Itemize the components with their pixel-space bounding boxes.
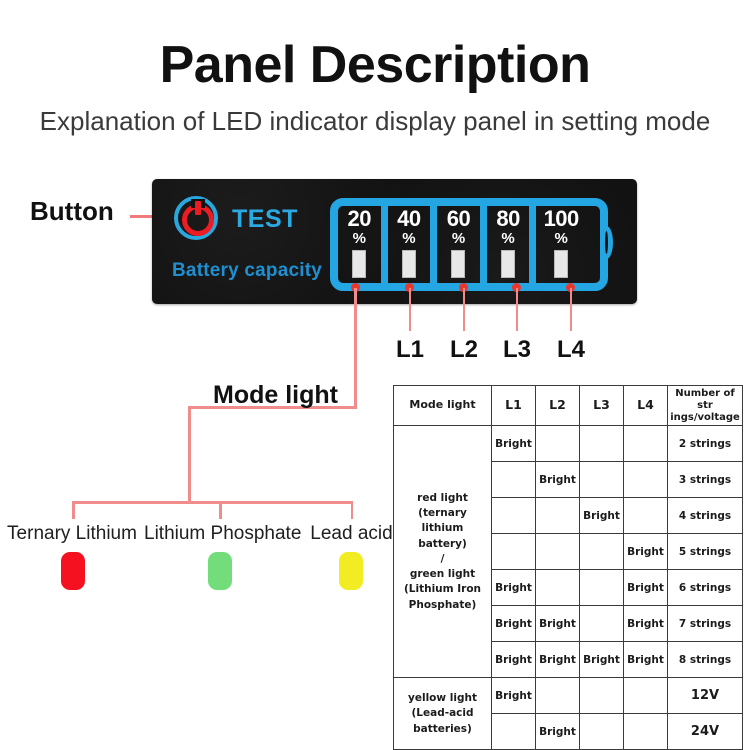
cell-l2 (536, 498, 580, 534)
branch-drop-leadacid (351, 501, 354, 519)
th-mode-light: Mode light (394, 386, 492, 426)
l3-callout-line (516, 288, 519, 331)
cell-l1 (492, 534, 536, 570)
th-l1: L1 (492, 386, 536, 426)
table-row: red light (ternary lithium battery) / gr… (394, 426, 743, 462)
cell-l4 (624, 498, 668, 534)
cell-result: 3 strings (668, 462, 743, 498)
battery-segment-60: 60 % (437, 206, 487, 283)
segment-value: 80 (496, 208, 519, 230)
cell-result: 4 strings (668, 498, 743, 534)
mode-line: (Lithium Iron (404, 583, 481, 595)
battery-capacity-label: Battery capacity (172, 260, 322, 282)
mode-light-vline (354, 288, 357, 408)
cell-l2 (536, 678, 580, 714)
power-stem (195, 201, 201, 215)
page-title: Panel Description (0, 38, 750, 93)
cell-result: 7 strings (668, 606, 743, 642)
mode-line: battery) (418, 538, 467, 550)
mode-line: yellow light (408, 692, 477, 704)
th-strings-voltage: Number of str ings/voltage (668, 386, 743, 426)
l2-callout-line (463, 288, 466, 331)
cell-mode-group-red-green: red light (ternary lithium battery) / gr… (394, 426, 492, 678)
segment-unit: % (501, 231, 514, 246)
swatch-green-lithium-phosphate (208, 552, 232, 590)
cell-l4: Bright (624, 642, 668, 678)
l4-label: L4 (557, 336, 585, 364)
page-subtitle: Explanation of LED indicator display pan… (0, 106, 750, 137)
power-button-icon[interactable] (174, 196, 222, 244)
cell-l4 (624, 426, 668, 462)
button-callout-label: Button (30, 196, 114, 227)
cell-l3 (580, 678, 624, 714)
mode-line: batteries) (413, 723, 472, 735)
leaf-label-lithium-phosphate: Lithium Phosphate (144, 523, 296, 545)
leaf-label-ternary-lithium: Ternary Lithium (5, 523, 139, 545)
l4-callout-line (570, 288, 573, 331)
swatch-red-ternary-lithium (61, 552, 85, 590)
cell-result: 12V (668, 678, 743, 714)
branch-drop-phosphate (219, 501, 222, 519)
cell-l4 (624, 714, 668, 750)
cell-l2 (536, 570, 580, 606)
cell-l2: Bright (536, 606, 580, 642)
mode-line: green light (410, 568, 475, 580)
mode-line: Phosphate) (409, 599, 477, 611)
cell-l3 (580, 462, 624, 498)
cell-l3: Bright (580, 498, 624, 534)
cell-l2 (536, 426, 580, 462)
cell-l1 (492, 462, 536, 498)
battery-segments: 20 % 40 % 60 % 80 % 100 % (338, 206, 586, 283)
l3-label: L3 (503, 336, 531, 364)
battery-terminal-nub-icon (600, 226, 613, 259)
cell-l1: Bright (492, 642, 536, 678)
segment-led-indicator (402, 250, 416, 278)
cell-l3 (580, 534, 624, 570)
segment-unit: % (353, 231, 366, 246)
battery-segment-40: 40 % (388, 206, 438, 283)
segment-unit: % (555, 231, 568, 246)
th-l2: L2 (536, 386, 580, 426)
cell-result: 24V (668, 714, 743, 750)
table-row: yellow light (Lead-acid batteries) Brigh… (394, 678, 743, 714)
segment-led-indicator (451, 250, 465, 278)
segment-value: 20 (348, 208, 371, 230)
mode-line: (Lead-acid (412, 707, 474, 719)
cell-l3 (580, 606, 624, 642)
cell-l2: Bright (536, 714, 580, 750)
cell-l4: Bright (624, 570, 668, 606)
mode-line: / (441, 553, 445, 565)
cell-l1 (492, 714, 536, 750)
cell-l3 (580, 714, 624, 750)
battery-segment-20: 20 % (338, 206, 388, 283)
swatch-yellow-lead-acid (339, 552, 363, 590)
cell-l1: Bright (492, 570, 536, 606)
cell-result: 8 strings (668, 642, 743, 678)
cell-l1 (492, 498, 536, 534)
cell-l4 (624, 678, 668, 714)
th-l4: L4 (624, 386, 668, 426)
battery-segment-100: 100 % (536, 206, 586, 283)
l1-callout-line (409, 288, 412, 331)
cell-mode-group-yellow: yellow light (Lead-acid batteries) (394, 678, 492, 750)
cell-result: 6 strings (668, 570, 743, 606)
segment-value: 40 (397, 208, 420, 230)
cell-l2: Bright (536, 642, 580, 678)
l2-label: L2 (450, 336, 478, 364)
segment-value: 100 (544, 208, 579, 230)
segment-unit: % (402, 231, 415, 246)
test-label: TEST (232, 205, 298, 234)
cell-l1: Bright (492, 606, 536, 642)
mode-light-drop (188, 406, 191, 503)
segment-led-indicator (352, 250, 366, 278)
cell-l3 (580, 570, 624, 606)
cell-result: 2 strings (668, 426, 743, 462)
mode-line: (ternary lithium (418, 507, 467, 534)
cell-l3 (580, 426, 624, 462)
cell-l2 (536, 534, 580, 570)
cell-l1: Bright (492, 678, 536, 714)
battery-segment-80: 80 % (487, 206, 537, 283)
cell-l1: Bright (492, 426, 536, 462)
mode-line: red light (417, 492, 468, 504)
cell-l2: Bright (536, 462, 580, 498)
mode-light-label: Mode light (213, 381, 338, 410)
segment-led-indicator (501, 250, 515, 278)
cell-l3: Bright (580, 642, 624, 678)
l1-label: L1 (396, 336, 424, 364)
screenshot-root: Panel Description Explanation of LED ind… (0, 0, 750, 750)
cell-result: 5 strings (668, 534, 743, 570)
th-l3: L3 (580, 386, 624, 426)
segment-value: 60 (447, 208, 470, 230)
table-header-row: Mode light L1 L2 L3 L4 Number of str ing… (394, 386, 743, 426)
leaf-label-lead-acid: Lead acid (305, 523, 398, 545)
cell-l4 (624, 462, 668, 498)
cell-l4: Bright (624, 534, 668, 570)
segment-led-indicator (554, 250, 568, 278)
segment-unit: % (452, 231, 465, 246)
cell-l4: Bright (624, 606, 668, 642)
mode-light-table: Mode light L1 L2 L3 L4 Number of str ing… (393, 385, 743, 750)
led-indicator-panel: TEST Battery capacity 20 % 40 % 60 % 80 (152, 179, 637, 304)
branch-drop-ternary (72, 501, 75, 519)
mode-branch-bus (72, 501, 353, 504)
